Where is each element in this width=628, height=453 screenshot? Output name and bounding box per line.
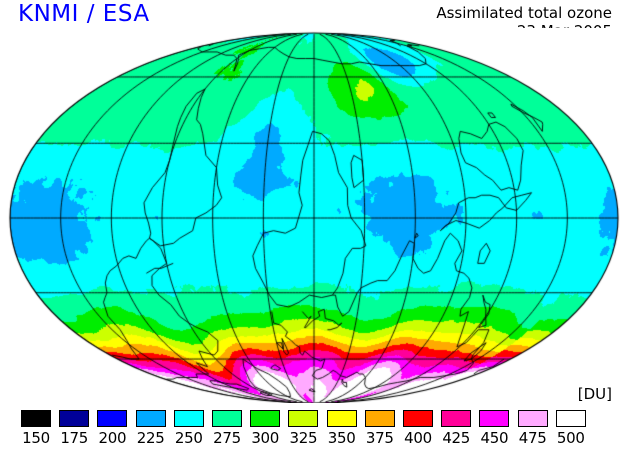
colorbar-entry: 300 xyxy=(246,410,284,447)
colorbar-tick-label: 275 xyxy=(208,429,246,447)
colorbar-swatch xyxy=(250,410,280,427)
colorbar-entry: 250 xyxy=(170,410,208,447)
ozone-map-canvas xyxy=(0,28,628,403)
colorbar-entry: 400 xyxy=(399,410,437,447)
colorbar-swatch xyxy=(441,410,471,427)
ozone-map-page: KNMI / ESA SCIAMACHY Assimilated total o… xyxy=(0,0,628,453)
colorbar-swatch xyxy=(97,410,127,427)
colorbar-entry: 425 xyxy=(437,410,475,447)
colorbar-swatch xyxy=(327,410,357,427)
colorbar-entry: 200 xyxy=(93,410,131,447)
colorbar-tick-label: 400 xyxy=(399,429,437,447)
institute-title: KNMI / ESA xyxy=(18,2,150,26)
ozone-map xyxy=(0,28,628,403)
colorbar-entry: 500 xyxy=(552,410,590,447)
colorbar-tick-label: 375 xyxy=(361,429,399,447)
colorbar-swatch xyxy=(174,410,204,427)
colorbar-swatch xyxy=(212,410,242,427)
colorbar: 1501752002252502753003253503754004254504… xyxy=(0,410,628,453)
colorbar-tick-label: 325 xyxy=(284,429,322,447)
colorbar-tick-label: 150 xyxy=(17,429,55,447)
colorbar-tick-label: 200 xyxy=(93,429,131,447)
colorbar-swatch xyxy=(365,410,395,427)
colorbar-entry: 225 xyxy=(132,410,170,447)
colorbar-tick-label: 175 xyxy=(55,429,93,447)
colorbar-swatch xyxy=(403,410,433,427)
colorbar-swatch xyxy=(479,410,509,427)
colorbar-swatch xyxy=(556,410,586,427)
product-title: Assimilated total ozone xyxy=(436,4,612,22)
colorbar-entry: 150 xyxy=(17,410,55,447)
colorbar-swatch xyxy=(288,410,318,427)
colorbar-tick-label: 475 xyxy=(514,429,552,447)
colorbar-entry: 175 xyxy=(55,410,93,447)
colorbar-tick-label: 250 xyxy=(170,429,208,447)
colorbar-tick-label: 500 xyxy=(552,429,590,447)
colorbar-tick-label: 350 xyxy=(323,429,361,447)
colorbar-entry: 450 xyxy=(475,410,513,447)
colorbar-swatch xyxy=(518,410,548,427)
colorbar-entry: 375 xyxy=(361,410,399,447)
colorbar-swatch xyxy=(59,410,89,427)
colorbar-entry: 325 xyxy=(284,410,322,447)
colorbar-tick-label: 225 xyxy=(132,429,170,447)
colorbar-tick-label: 300 xyxy=(246,429,284,447)
colorbar-tick-label: 450 xyxy=(475,429,513,447)
colorbar-entry: 475 xyxy=(514,410,552,447)
colorbar-unit-label: [DU] xyxy=(578,385,612,403)
colorbar-swatch xyxy=(21,410,51,427)
colorbar-entry: 350 xyxy=(323,410,361,447)
colorbar-swatch xyxy=(136,410,166,427)
colorbar-entry: 275 xyxy=(208,410,246,447)
colorbar-tick-label: 425 xyxy=(437,429,475,447)
